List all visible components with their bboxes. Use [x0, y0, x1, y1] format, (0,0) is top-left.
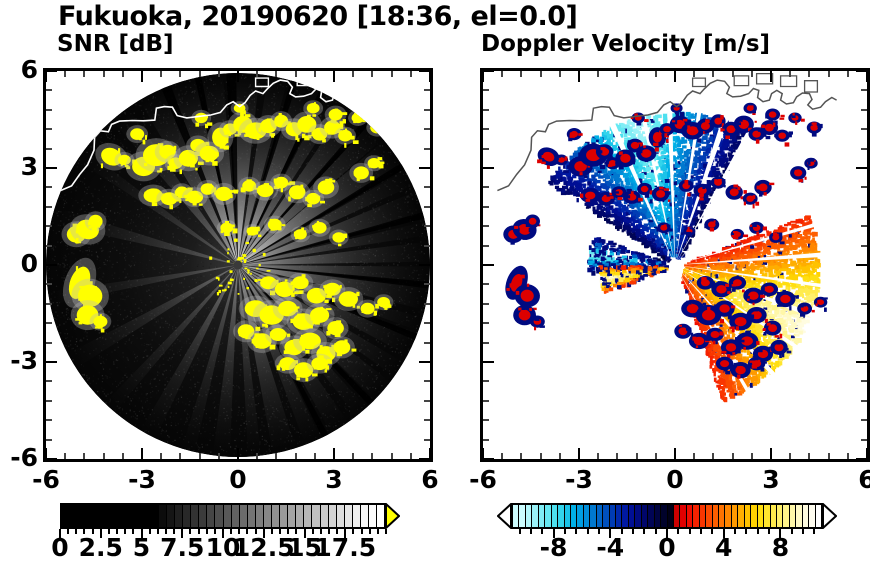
- ytick-minor: [483, 128, 489, 130]
- xtick-minor: [160, 71, 162, 77]
- xtick-major: [141, 71, 143, 82]
- xtick-major: [333, 448, 335, 459]
- ytick-major: [856, 167, 867, 169]
- xtick-minor: [256, 71, 258, 77]
- ytick-minor: [861, 128, 867, 130]
- ytick-minor: [46, 128, 52, 130]
- ytick-label: 0: [2, 249, 38, 278]
- xtick-major: [237, 448, 239, 459]
- plot-panel-snr: [43, 68, 433, 462]
- xtick-minor: [597, 453, 599, 459]
- ytick-minor: [424, 206, 430, 208]
- xtick-minor: [616, 453, 618, 459]
- xtick-minor: [597, 71, 599, 77]
- ytick-major: [46, 167, 57, 169]
- xtick-minor: [751, 71, 753, 77]
- xtick-major: [45, 71, 47, 82]
- ytick-major: [483, 264, 494, 266]
- xtick-minor: [655, 453, 657, 459]
- xtick-minor: [179, 453, 181, 459]
- ytick-major: [46, 361, 57, 363]
- ytick-minor: [424, 439, 430, 441]
- colorbar-snr: [60, 503, 400, 529]
- xtick-major: [674, 448, 676, 459]
- xtick-minor: [410, 453, 412, 459]
- xtick-minor: [616, 71, 618, 77]
- ytick-minor: [46, 283, 52, 285]
- xtick-major: [674, 71, 676, 82]
- ytick-minor: [46, 148, 52, 150]
- colorbar-outline: [497, 503, 837, 529]
- xtick-major: [578, 448, 580, 459]
- ytick-minor: [483, 342, 489, 344]
- ytick-minor: [424, 128, 430, 130]
- ytick-minor: [861, 109, 867, 111]
- xtick-major: [429, 71, 431, 82]
- xtick-minor: [808, 453, 810, 459]
- xtick-label: 3: [741, 465, 801, 494]
- ytick-minor: [46, 245, 52, 247]
- xtick-minor: [520, 453, 522, 459]
- xtick-minor: [83, 71, 85, 77]
- xtick-minor: [352, 71, 354, 77]
- xtick-major: [333, 71, 335, 82]
- xtick-minor: [828, 453, 830, 459]
- plot-panel-doppler: [480, 68, 870, 462]
- ytick-minor: [424, 225, 430, 227]
- ytick-minor: [861, 148, 867, 150]
- ytick-minor: [46, 225, 52, 227]
- ytick-major: [46, 458, 57, 460]
- ytick-minor: [483, 148, 489, 150]
- xtick-minor: [712, 71, 714, 77]
- ytick-major: [483, 458, 494, 460]
- ytick-minor: [483, 322, 489, 324]
- xtick-minor: [199, 453, 201, 459]
- xtick-minor: [559, 71, 561, 77]
- xtick-minor: [847, 71, 849, 77]
- xtick-minor: [847, 453, 849, 459]
- xtick-label: 0: [208, 465, 268, 494]
- ytick-minor: [46, 342, 52, 344]
- ytick-minor: [424, 303, 430, 305]
- xtick-minor: [391, 71, 393, 77]
- xtick-minor: [256, 453, 258, 459]
- xtick-minor: [540, 453, 542, 459]
- xtick-minor: [371, 453, 373, 459]
- xtick-minor: [314, 453, 316, 459]
- xtick-minor: [693, 71, 695, 77]
- xtick-minor: [712, 453, 714, 459]
- xtick-minor: [64, 71, 66, 77]
- ytick-major: [483, 70, 494, 72]
- xtick-minor: [83, 453, 85, 459]
- page-title: Fukuoka, 20190620 [18:36, el=0.0]: [58, 1, 577, 32]
- xtick-label: 6: [837, 465, 870, 494]
- ytick-major: [46, 264, 57, 266]
- xtick-minor: [122, 71, 124, 77]
- ytick-major: [46, 70, 57, 72]
- xtick-minor: [122, 453, 124, 459]
- ytick-minor: [424, 419, 430, 421]
- ytick-minor: [483, 89, 489, 91]
- ytick-minor: [483, 380, 489, 382]
- xtick-minor: [391, 453, 393, 459]
- xtick-minor: [218, 71, 220, 77]
- xtick-minor: [732, 453, 734, 459]
- ytick-minor: [861, 439, 867, 441]
- colorbar-doppler: [497, 503, 837, 529]
- xtick-minor: [295, 71, 297, 77]
- xtick-major: [578, 71, 580, 82]
- ytick-minor: [861, 206, 867, 208]
- ytick-minor: [46, 322, 52, 324]
- ytick-minor: [861, 380, 867, 382]
- xtick-minor: [828, 71, 830, 77]
- ytick-minor: [861, 419, 867, 421]
- ytick-minor: [46, 206, 52, 208]
- ytick-minor: [483, 303, 489, 305]
- xtick-label: -3: [549, 465, 609, 494]
- xtick-minor: [295, 453, 297, 459]
- colorbar-outline: [60, 503, 400, 529]
- ytick-major: [856, 361, 867, 363]
- xtick-label: 6: [400, 465, 460, 494]
- xtick-major: [866, 71, 868, 82]
- ytick-major: [419, 167, 430, 169]
- xtick-minor: [352, 453, 354, 459]
- ytick-minor: [483, 419, 489, 421]
- xtick-label: 3: [304, 465, 364, 494]
- xtick-minor: [655, 71, 657, 77]
- xtick-minor: [636, 453, 638, 459]
- ytick-minor: [483, 109, 489, 111]
- xtick-major: [770, 448, 772, 459]
- xtick-minor: [636, 71, 638, 77]
- xtick-minor: [64, 453, 66, 459]
- ytick-minor: [46, 303, 52, 305]
- xtick-minor: [751, 453, 753, 459]
- ytick-minor: [861, 186, 867, 188]
- xtick-minor: [160, 453, 162, 459]
- ytick-minor: [483, 245, 489, 247]
- ytick-minor: [861, 89, 867, 91]
- ytick-minor: [483, 225, 489, 227]
- ytick-minor: [861, 283, 867, 285]
- ytick-minor: [424, 186, 430, 188]
- ytick-minor: [46, 186, 52, 188]
- xtick-minor: [218, 453, 220, 459]
- ytick-minor: [861, 322, 867, 324]
- snr-plot-area: [46, 71, 430, 459]
- xtick-minor: [410, 71, 412, 77]
- doppler-plot-area: [483, 71, 867, 459]
- xtick-label: -3: [112, 465, 172, 494]
- xtick-minor: [103, 71, 105, 77]
- ytick-minor: [424, 322, 430, 324]
- ytick-minor: [861, 342, 867, 344]
- xtick-minor: [371, 71, 373, 77]
- xtick-minor: [501, 453, 503, 459]
- ytick-minor: [46, 109, 52, 111]
- ytick-label: 6: [2, 55, 38, 84]
- ytick-major: [483, 361, 494, 363]
- ytick-minor: [46, 400, 52, 402]
- xtick-label: -6: [453, 465, 513, 494]
- xtick-minor: [540, 71, 542, 77]
- ytick-minor: [483, 283, 489, 285]
- ytick-minor: [483, 186, 489, 188]
- ytick-label: -6: [2, 443, 38, 472]
- xtick-minor: [520, 71, 522, 77]
- xtick-minor: [789, 71, 791, 77]
- ytick-major: [419, 361, 430, 363]
- ytick-minor: [861, 245, 867, 247]
- xtick-minor: [199, 71, 201, 77]
- ytick-major: [856, 70, 867, 72]
- snr-radar-image: [46, 71, 430, 459]
- ytick-minor: [46, 439, 52, 441]
- xtick-minor: [559, 453, 561, 459]
- ytick-minor: [861, 303, 867, 305]
- xtick-major: [237, 71, 239, 82]
- xtick-label: 0: [645, 465, 705, 494]
- colorbar-tick-minor: [385, 529, 387, 534]
- ytick-major: [419, 458, 430, 460]
- ytick-major: [419, 264, 430, 266]
- ytick-minor: [424, 245, 430, 247]
- ytick-major: [419, 70, 430, 72]
- ytick-minor: [46, 89, 52, 91]
- ytick-minor: [861, 400, 867, 402]
- xtick-minor: [314, 71, 316, 77]
- ytick-minor: [424, 89, 430, 91]
- ytick-minor: [483, 206, 489, 208]
- xtick-minor: [275, 453, 277, 459]
- ytick-minor: [46, 380, 52, 382]
- xtick-minor: [103, 453, 105, 459]
- xtick-major: [482, 71, 484, 82]
- ytick-minor: [424, 109, 430, 111]
- ytick-minor: [424, 380, 430, 382]
- xtick-minor: [789, 453, 791, 459]
- ytick-minor: [483, 439, 489, 441]
- xtick-minor: [501, 71, 503, 77]
- ytick-major: [856, 264, 867, 266]
- colorbar-tick-label: 17.5: [310, 533, 380, 562]
- xtick-major: [770, 71, 772, 82]
- xtick-minor: [808, 71, 810, 77]
- ytick-label: -3: [2, 346, 38, 375]
- xtick-minor: [179, 71, 181, 77]
- ytick-minor: [483, 400, 489, 402]
- ytick-minor: [46, 419, 52, 421]
- ytick-major: [856, 458, 867, 460]
- xtick-minor: [732, 71, 734, 77]
- panel-title-doppler: Doppler Velocity [m/s]: [481, 31, 770, 57]
- panel-title-snr: SNR [dB]: [57, 31, 174, 57]
- ytick-minor: [424, 342, 430, 344]
- doppler-radar-image: [483, 71, 867, 459]
- xtick-minor: [275, 71, 277, 77]
- xtick-minor: [693, 453, 695, 459]
- ytick-minor: [861, 225, 867, 227]
- ytick-label: 3: [2, 152, 38, 181]
- colorbar-tick-label: 8: [745, 533, 815, 562]
- ytick-minor: [424, 148, 430, 150]
- ytick-minor: [424, 400, 430, 402]
- xtick-major: [141, 448, 143, 459]
- ytick-major: [483, 167, 494, 169]
- ytick-minor: [424, 283, 430, 285]
